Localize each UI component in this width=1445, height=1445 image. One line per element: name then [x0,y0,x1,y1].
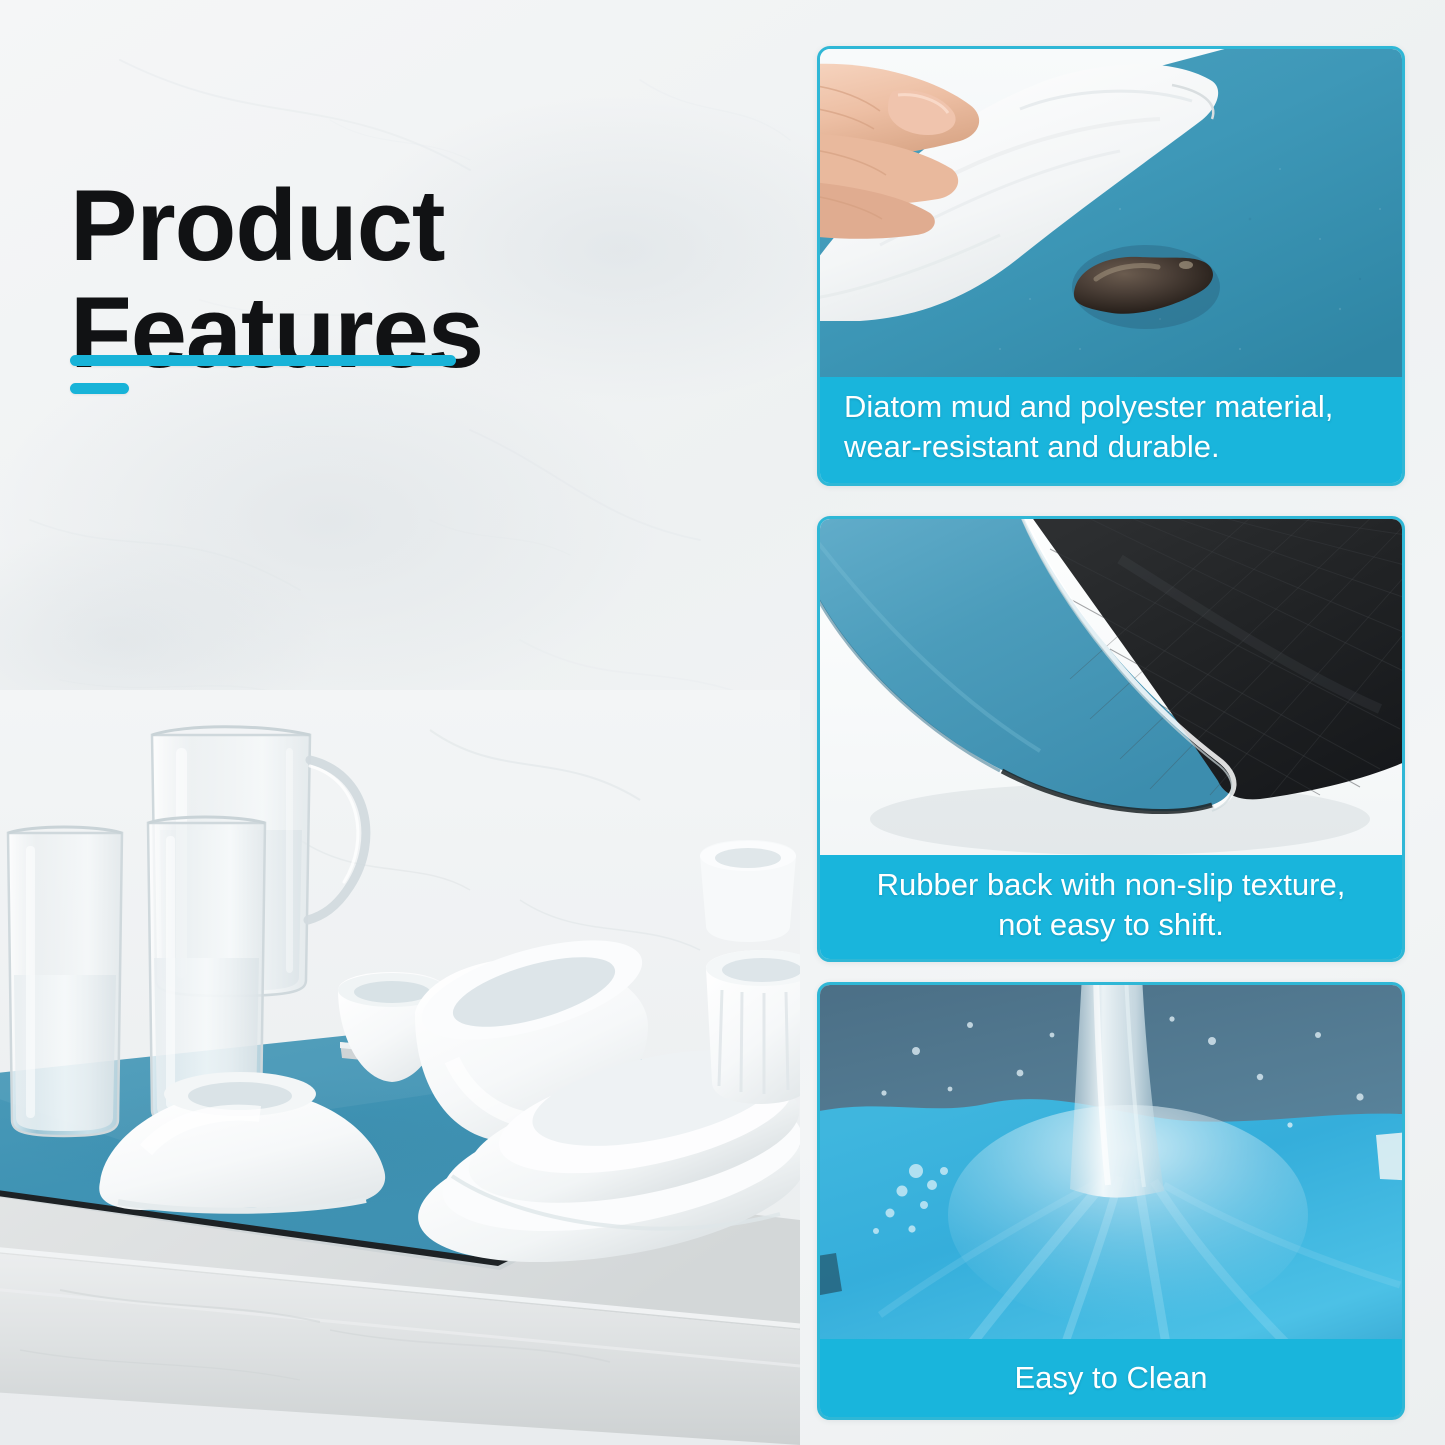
folded-mat-illustration [820,519,1402,855]
caption-line-2: not easy to shift. [836,905,1386,945]
fluted-cup [706,950,800,1104]
liquid-droplet [1072,245,1220,329]
feature-photo-material [820,49,1402,377]
hero-photo [0,690,800,1445]
caption-line-1: Rubber back with non-slip texture, [836,865,1386,905]
hero-illustration [0,690,800,1445]
page-title-line-2: Features [70,280,710,387]
page-title-line-1: Product [70,170,445,282]
caption-line-2: wear-resistant and durable. [844,427,1386,467]
feature-panel-easy-clean: Easy to Clean [817,982,1405,1420]
feature-panel-material: Diatom mud and polyester material, wear-… [817,46,1405,486]
feature-caption-easy-clean: Easy to Clean [820,1339,1402,1417]
feature-panel-rubber-back: Rubber back with non-slip texture, not e… [817,516,1405,962]
drinking-glass-left [8,827,122,1136]
infographic-page: Product Features [0,0,1445,1445]
caption-line-1: Diatom mud and polyester material, [844,387,1386,427]
feature-photo-easy-clean: Easy to Clean [820,985,1402,1417]
small-ramekin [700,840,796,942]
feature-caption-material: Diatom mud and polyester material, wear-… [820,377,1402,483]
feature-photo-rubber-back [820,519,1402,855]
caption-line-1: Easy to Clean [1015,1358,1208,1398]
feature-caption-rubber-back: Rubber back with non-slip texture, not e… [820,855,1402,959]
hand-lifting-cloth-illustration [820,49,1402,377]
title-underline-long [70,355,456,366]
title-underline-short [70,383,129,394]
